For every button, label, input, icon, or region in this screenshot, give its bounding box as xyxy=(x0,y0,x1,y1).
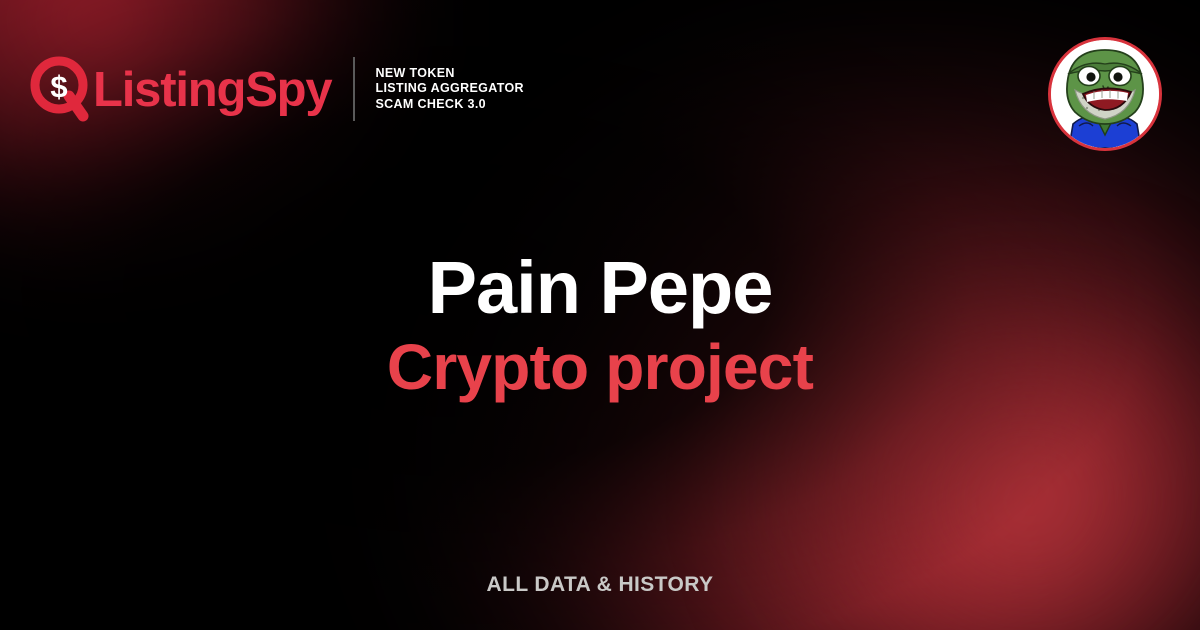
hero-block: Pain Pepe Crypto project xyxy=(0,246,1200,404)
tagline-line-3: SCAM CHECK 3.0 xyxy=(375,97,485,111)
tagline-line-1: NEW TOKEN xyxy=(375,66,454,80)
brand-tagline: NEW TOKEN LISTING AGGREGATOR SCAM CHECK … xyxy=(375,66,523,113)
svg-text:$: $ xyxy=(50,69,67,104)
header-divider xyxy=(353,57,355,121)
share-card: $ ListingSpy NEW TOKEN LISTING AGGREGATO… xyxy=(0,0,1200,630)
pepe-avatar-icon[interactable] xyxy=(1048,37,1162,151)
brand-name: ListingSpy xyxy=(93,66,331,115)
header: $ ListingSpy NEW TOKEN LISTING AGGREGATO… xyxy=(0,0,1200,170)
page-subtitle: Crypto project xyxy=(0,330,1200,404)
brand-lockup[interactable]: $ ListingSpy NEW TOKEN LISTING AGGREGATO… xyxy=(30,52,524,126)
footer-caption: ALL DATA & HISTORY xyxy=(0,573,1200,597)
magnifier-dollar-icon: $ xyxy=(30,52,90,126)
tagline-line-2: LISTING AGGREGATOR xyxy=(375,81,523,95)
page-title: Pain Pepe xyxy=(0,246,1200,330)
